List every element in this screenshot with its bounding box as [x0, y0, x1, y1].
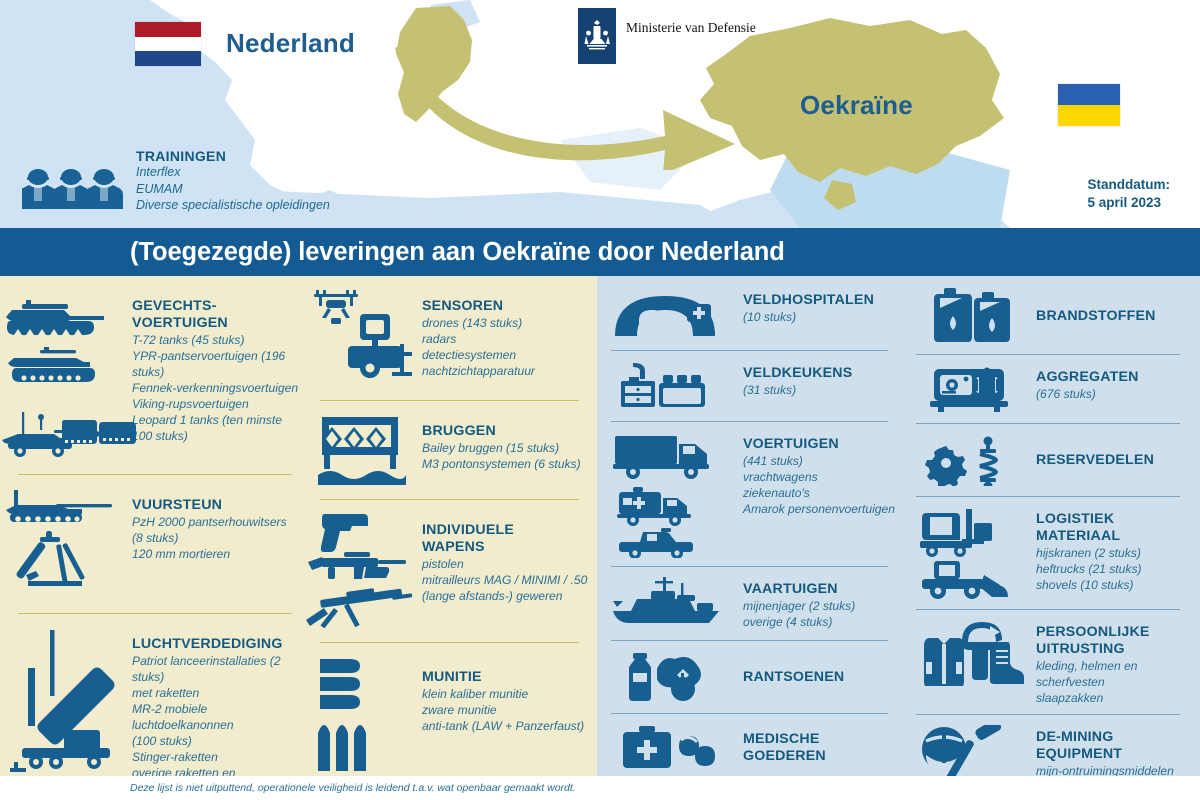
- shells-icon: [320, 659, 360, 709]
- entry-vaartuigen: VAARTUIGEN mijnenjager (2 stuks) overige…: [597, 567, 902, 630]
- entry-title: RANTSOENEN: [743, 669, 902, 686]
- shock-absorber-icon: [980, 437, 996, 487]
- entry-rantsoenen: RANTSOENEN: [597, 641, 902, 703]
- trainings-item: Interflex: [136, 164, 330, 181]
- individual-weapons-icons: [304, 512, 418, 632]
- entry-title: VELDKEUKENS: [743, 365, 902, 382]
- entry-item: (100 stuks): [132, 733, 300, 749]
- infographic-page: Nederland Oekraïne: [0, 0, 1200, 800]
- logistics-icons: [916, 507, 1024, 603]
- boot-icon: [990, 642, 1024, 684]
- personal-equipment-icons: [916, 620, 1024, 686]
- entry-title: VELDHOSPITALEN: [743, 292, 902, 309]
- wheel-loader-icon: [922, 561, 1008, 599]
- entry-item: hijskranen (2 stuks): [1036, 545, 1200, 561]
- entry-reservedelen: RESERVEDELEN: [902, 424, 1200, 486]
- fire-support-icons: [0, 487, 132, 607]
- spare-parts-icons: [916, 434, 1024, 486]
- entry-logistiek-materiaal: LOGISTIEK MATERIAAL hijskranen (2 stuks)…: [902, 497, 1200, 603]
- entry-item: Bailey bruggen (15 stuks): [422, 440, 597, 456]
- entry-title: MEDISCHE GOEDEREN: [743, 731, 902, 765]
- entry-title: SENSOREN: [422, 298, 597, 315]
- entry-item: shovels (10 stuks): [1036, 577, 1200, 593]
- entry-title: PERSOONLIJKE: [1036, 624, 1200, 641]
- gear-icon: [925, 446, 967, 486]
- content-panels: GEVECHTS- VOERTUIGEN T-72 tanks (45 stuk…: [0, 276, 1200, 776]
- column-3: VELDHOSPITALEN (10 stuks): [597, 276, 902, 800]
- drone-icon: [314, 290, 358, 324]
- entry-item: slaapzakken: [1036, 690, 1200, 706]
- entry-item: heftrucks (21 stuks): [1036, 561, 1200, 577]
- trainings-title: TRAININGEN: [136, 148, 330, 164]
- entry-title: LOGISTIEK: [1036, 511, 1200, 528]
- truck-icon: [613, 436, 709, 479]
- ukraine-label: Oekraïne: [800, 90, 913, 121]
- entry-aggregaten: AGGREGATEN (676 stuks): [902, 355, 1200, 413]
- entry-persoonlijke-uitrusting: PERSOONLIJKE UITRUSTING kleding, helmen …: [902, 610, 1200, 706]
- rations-icon: [611, 651, 729, 703]
- entry-title: LUCHTVERDEDIGING: [132, 636, 300, 653]
- netherlands-label: Nederland: [226, 28, 355, 59]
- entry-title: VOERTUIGEN: [132, 315, 300, 332]
- entry-bruggen: BRUGGEN Bailey bruggen (15 stuks) M3 pon…: [300, 401, 597, 487]
- entry-veldhospitalen: VELDHOSPITALEN (10 stuks): [597, 276, 902, 340]
- pistol-icon: [321, 514, 368, 552]
- entry-item: PzH 2000 pantserhouwitsers: [132, 514, 300, 530]
- entry-item: (lange afstands-) geweren: [422, 588, 597, 604]
- entry-item: mijnenjager (2 stuks): [743, 598, 902, 614]
- patriot-launcher-icon: [10, 630, 115, 772]
- forklift-icon: [920, 509, 992, 557]
- soldiers-icon: [22, 165, 128, 213]
- ministry-logo: [578, 8, 616, 64]
- entry-item: pistolen: [422, 556, 597, 572]
- entry-item: (676 stuks): [1036, 386, 1200, 402]
- entry-title: EQUIPMENT: [1036, 746, 1200, 763]
- trainings-block: TRAININGEN Interflex EUMAM Diverse speci…: [136, 148, 330, 214]
- entry-title: INDIVIDUELE: [422, 522, 597, 539]
- entry-item: Fennek-verkenningsvoertuigen: [132, 380, 300, 396]
- entry-item: anti-tank (LAW + Panzerfaust): [422, 718, 597, 734]
- entry-item: T-72 tanks (45 stuks): [132, 332, 300, 348]
- entry-title: AGGREGATEN: [1036, 369, 1200, 386]
- column-4: BRANDSTOFFEN: [902, 276, 1200, 800]
- entry-item: zware munitie: [422, 702, 597, 718]
- entry-medische-goederen: MEDISCHE GOEDEREN: [597, 714, 902, 772]
- entry-item: met raketten: [132, 685, 300, 701]
- ukraine-flag: [1058, 84, 1120, 126]
- entry-brandstoffen: BRANDSTOFFEN: [902, 276, 1200, 344]
- entry-item: Stinger-raketten: [132, 749, 300, 765]
- tank-icon: [6, 300, 104, 335]
- entry-item: ziekenauto's: [743, 485, 902, 501]
- entry-title: MATERIAAL: [1036, 528, 1200, 545]
- radar-trailer-icon: [348, 314, 412, 378]
- footer: Deze lijst is niet uitputtend, operation…: [0, 776, 1200, 800]
- entry-item: mitrailleurs MAG / MINIMI / .50: [422, 572, 597, 588]
- minehunter-ship-icon: [611, 577, 729, 629]
- cartridges-icon: [318, 725, 366, 771]
- entry-item: vrachtwagens: [743, 469, 902, 485]
- entry-title: RESERVEDELEN: [1036, 452, 1200, 469]
- vest-icon: [924, 638, 964, 686]
- entry-item: overige (4 stuks): [743, 614, 902, 630]
- apc-icon: [8, 347, 95, 382]
- air-defence-icons: [0, 626, 132, 786]
- entry-item: (441 stuks): [743, 453, 902, 469]
- entry-title: VOERTUIGEN: [743, 436, 902, 453]
- panel-right: VELDHOSPITALEN (10 stuks): [597, 276, 1200, 776]
- entry-title: BRANDSTOFFEN: [1036, 308, 1200, 325]
- column-1: GEVECHTS- VOERTUIGEN T-72 tanks (45 stuk…: [0, 276, 300, 800]
- column-2: SENSOREN drones (143 stuks) radars detec…: [300, 276, 597, 800]
- entry-item: (8 stuks): [132, 530, 300, 546]
- page-title: (Toegezegde) leveringen aan Oekraïne doo…: [130, 238, 785, 267]
- howitzer-icon: [6, 490, 112, 522]
- entry-title: DE-MINING: [1036, 729, 1200, 746]
- ambulance-icon: [617, 487, 691, 526]
- fuel-cans-icon: [916, 288, 1024, 344]
- trainings-item: Diverse specialistische opleidingen: [136, 197, 330, 214]
- medical-kit-icon: [611, 724, 729, 772]
- entry-title: VAARTUIGEN: [743, 581, 902, 598]
- entry-title: MUNITIE: [422, 669, 597, 686]
- entry-voertuigen: VOERTUIGEN (441 stuks) vrachtwagens ziek…: [597, 422, 902, 558]
- panel-left: GEVECHTS- VOERTUIGEN T-72 tanks (45 stuk…: [0, 276, 597, 776]
- entry-item: 120 mm mortieren: [132, 546, 300, 562]
- field-kitchen-icon: [611, 361, 729, 411]
- mortar-icon: [15, 531, 85, 586]
- entry-item: detectiesystemen: [422, 347, 597, 363]
- field-hospital-icon: [611, 288, 729, 340]
- vehicle-icons: [611, 432, 729, 558]
- entry-title: UITRUSTING: [1036, 641, 1200, 658]
- entry-item: MR-2 mobiele luchtdoelkanonnen: [132, 701, 300, 733]
- entry-item: Viking-rupsvoertuigen: [132, 396, 300, 412]
- entry-item: kleding, helmen en scherfvesten: [1036, 658, 1200, 690]
- entry-item: Leopard 1 tanks (ten minste 100 stuks): [132, 412, 300, 444]
- standdatum-value: 5 april 2023: [1088, 194, 1171, 212]
- bridge-icon: [304, 413, 418, 487]
- machinegun-icon: [308, 552, 406, 579]
- entry-item: radars: [422, 331, 597, 347]
- entry-item: M3 pontonsystemen (6 stuks): [422, 456, 597, 472]
- main-title-bar: (Toegezegde) leveringen aan Oekraïne doo…: [0, 228, 1200, 276]
- entry-title: WAPENS: [422, 539, 597, 556]
- sensor-icons: [304, 288, 418, 396]
- entry-veldkeukens: VELDKEUKENS (31 stuks): [597, 351, 902, 411]
- coat-of-arms-icon: [584, 19, 610, 53]
- standdatum: Standdatum: 5 april 2023: [1088, 176, 1171, 212]
- entry-item: (31 stuks): [743, 382, 902, 398]
- entry-gevechtsvoertuigen: GEVECHTS- VOERTUIGEN T-72 tanks (45 stuk…: [0, 276, 300, 464]
- entry-vuursteun: VUURSTEUN PzH 2000 pantserhouwitsers (8 …: [0, 475, 300, 607]
- entry-item: (10 stuks): [743, 309, 902, 325]
- entry-item: drones (143 stuks): [422, 315, 597, 331]
- footer-note: Deze lijst is niet uitputtend, operation…: [130, 782, 576, 794]
- entry-title: BRUGGEN: [422, 423, 597, 440]
- generator-icon: [916, 365, 1024, 413]
- standdatum-label: Standdatum:: [1088, 176, 1171, 194]
- viking-icon: [62, 414, 140, 454]
- ministry-label: Ministerie van Defensie: [626, 20, 756, 36]
- trainings-item: EUMAM: [136, 181, 330, 198]
- entry-item: klein kaliber munitie: [422, 686, 597, 702]
- pickup-icon: [619, 528, 693, 558]
- entry-individuele-wapens: INDIVIDUELE WAPENS pistolen mitrailleurs…: [300, 500, 597, 632]
- entry-item: nachtzichtapparatuur: [422, 363, 597, 379]
- entry-sensoren: SENSOREN drones (143 stuks) radars detec…: [300, 276, 597, 396]
- netherlands-flag: [135, 22, 201, 66]
- entry-item: Patriot lanceerinstallaties (2 stuks): [132, 653, 300, 685]
- header-map: Nederland Oekraïne: [0, 0, 1200, 228]
- pouch-icon: [972, 644, 988, 680]
- entry-item: Amarok personenvoertuigen: [743, 501, 902, 517]
- entry-title: GEVECHTS-: [132, 298, 300, 315]
- sniper-rifle-icon: [306, 588, 412, 628]
- entry-item: YPR-pantservoertuigen (196 stuks): [132, 348, 300, 380]
- entry-title: VUURSTEUN: [132, 497, 300, 514]
- entry-luchtverdediging: LUCHTVERDEDIGING Patriot lanceerinstalla…: [0, 614, 300, 800]
